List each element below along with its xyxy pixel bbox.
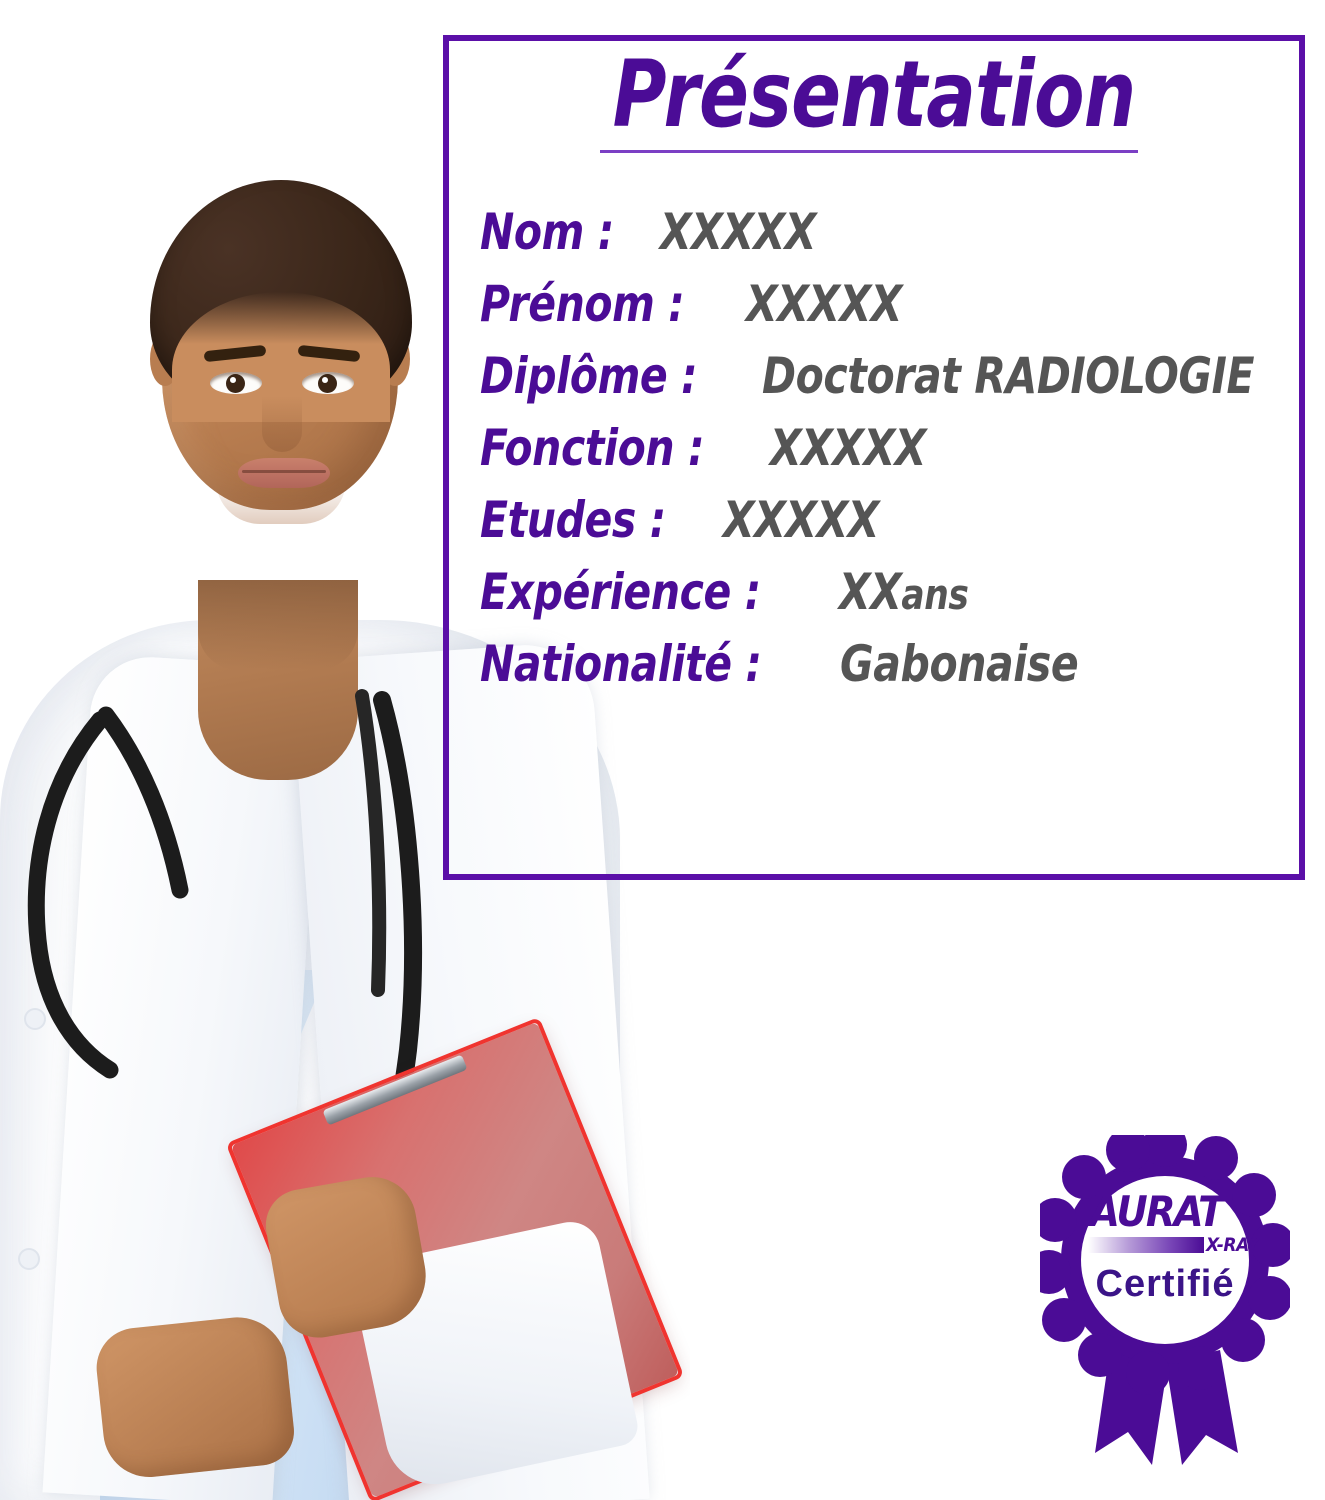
badge-sub-brand: X-RAY — [1206, 1234, 1259, 1256]
info-list: Nom : XXXXX Prénom : XXXXX Diplôme : Doc… — [480, 196, 1310, 700]
title-underline — [600, 150, 1138, 153]
experience-unit: ans — [902, 570, 969, 619]
info-label-fonction: Fonction : — [480, 412, 704, 484]
info-row-nom: Nom : XXXXX — [480, 196, 1310, 268]
info-value-nom: XXXXX — [660, 196, 816, 268]
info-value-prenom: XXXXX — [746, 268, 902, 340]
info-row-nationalite: Nationalité : Gabonaise — [480, 628, 1310, 700]
info-label-nom: Nom : — [480, 196, 614, 268]
info-label-diplome: Diplôme : — [480, 340, 697, 412]
info-label-nationalite: Nationalité : — [480, 628, 762, 700]
info-value-experience: XXans — [839, 556, 968, 631]
coat-button-upper — [26, 1010, 44, 1028]
info-row-experience: Expérience : XXans — [480, 556, 1310, 628]
info-label-etudes: Etudes : — [480, 484, 666, 556]
badge-brand: AURAT — [1090, 1191, 1237, 1233]
info-label-experience: Expérience : — [480, 556, 761, 628]
page-title: Présentation — [529, 48, 1219, 142]
info-value-etudes: XXXXX — [723, 484, 879, 556]
presentation-card: Présentation Nom : XXXXX Prénom : XXXXX … — [0, 0, 1325, 1500]
info-label-prenom: Prénom : — [480, 268, 684, 340]
title-container: Présentation — [443, 48, 1305, 142]
certification-badge: AURAT X-RAY Certifié — [1040, 1135, 1290, 1465]
badge-gradient-bar — [1088, 1237, 1204, 1253]
badge-status: Certifié — [1040, 1263, 1290, 1306]
info-value-diplome: Doctorat RADIOLOGIE — [762, 340, 1254, 412]
info-value-fonction: XXXXX — [770, 412, 926, 484]
coat-button-lower — [20, 1250, 38, 1268]
info-row-diplome: Diplôme : Doctorat RADIOLOGIE — [480, 340, 1310, 412]
info-row-etudes: Etudes : XXXXX — [480, 484, 1310, 556]
badge-text-group: AURAT X-RAY Certifié — [1040, 1135, 1290, 1385]
experience-number: XX — [839, 563, 901, 621]
info-row-prenom: Prénom : XXXXX — [480, 268, 1310, 340]
info-row-fonction: Fonction : XXXXX — [480, 412, 1310, 484]
hand-lower — [93, 1312, 298, 1481]
info-value-nationalite: Gabonaise — [840, 628, 1078, 700]
